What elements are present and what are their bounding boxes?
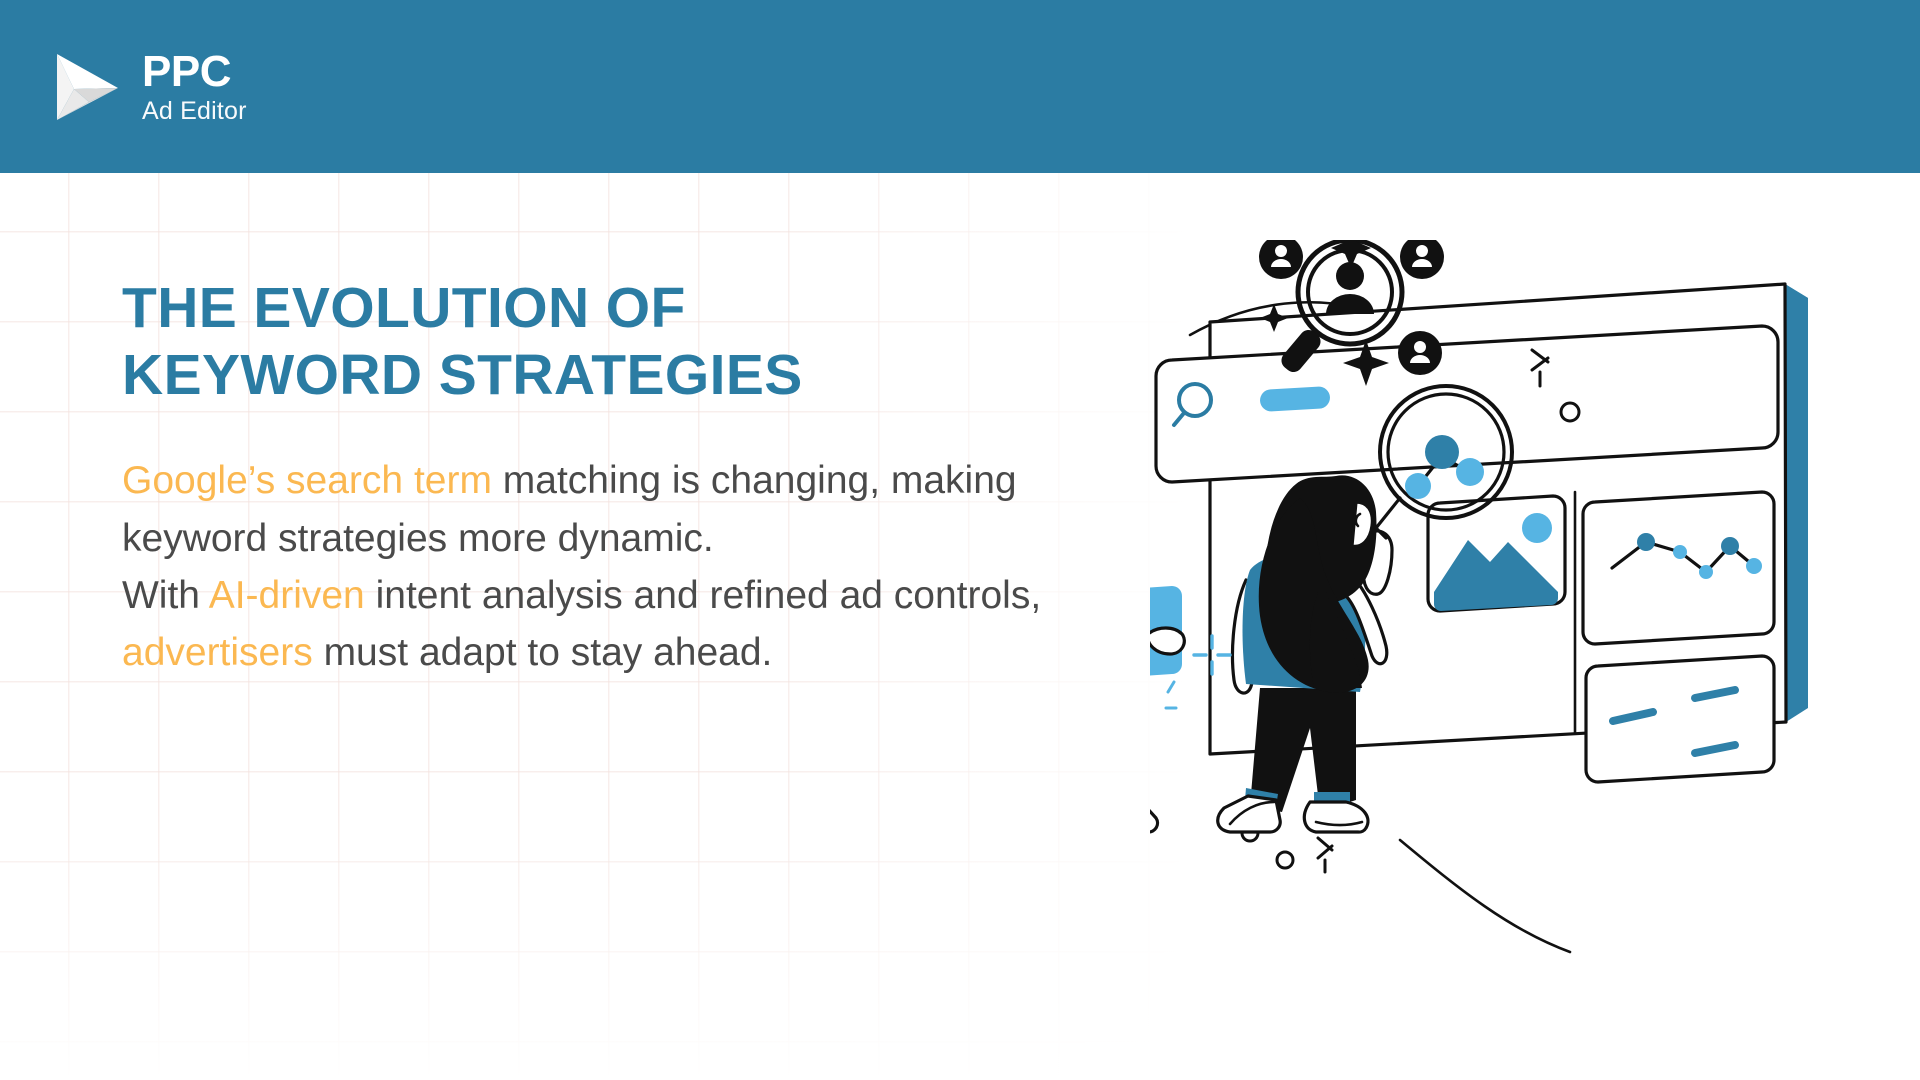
play-triangle-logo-icon (48, 48, 126, 126)
decor-circle-bl-2 (1277, 852, 1293, 868)
mag-chart-point-2 (1425, 435, 1459, 469)
chart-point-5 (1721, 537, 1739, 555)
image-card (1428, 496, 1565, 611)
decor-sparkle-bottom (1318, 838, 1332, 872)
body-text-5: intent analysis and (365, 574, 699, 617)
logo-wordmark: PPC Ad Editor (142, 50, 247, 124)
slide-root: PPC Ad Editor THE EVOLUTION OF KEYWORD S… (0, 0, 1920, 1080)
body-text-6: refined ad controls, (709, 574, 1041, 617)
header-bar: PPC Ad Editor (0, 0, 1920, 173)
decor-arc-bottom (1400, 840, 1570, 952)
content-column: THE EVOLUTION OF KEYWORD STRATEGIES Goog… (122, 275, 1042, 682)
mag-chart-point-1 (1405, 473, 1431, 499)
search-query-pill (1259, 386, 1330, 412)
person-body (1326, 294, 1374, 314)
line-chart-card (1583, 492, 1774, 644)
highlight-google-search-term: Google’s search term (122, 459, 492, 502)
person-head (1336, 262, 1364, 290)
chart-point-2 (1637, 533, 1655, 551)
body-paragraph: Google’s search term matching is changin… (122, 452, 1042, 681)
woman-shoe-right (1304, 802, 1368, 832)
logo-name: PPC (142, 50, 247, 94)
window-side-blue (1785, 284, 1808, 722)
chart-point-6 (1746, 558, 1762, 574)
image-sun-glyph (1522, 513, 1552, 543)
man-hand-holding-tablet (1150, 628, 1184, 654)
logo[interactable]: PPC Ad Editor (48, 48, 247, 126)
page-title: THE EVOLUTION OF KEYWORD STRATEGIES (122, 275, 1042, 408)
highlight-advertisers: advertisers (122, 631, 313, 674)
chart-point-3 (1673, 545, 1687, 559)
body-text-8: adapt to stay ahead. (419, 631, 772, 674)
person-badge-top-right (1400, 240, 1444, 279)
mag-chart-point-3 (1456, 458, 1484, 486)
person-badge-top-left (1259, 240, 1303, 279)
list-card (1586, 656, 1774, 782)
man-shoe-right (1150, 798, 1158, 832)
highlight-ai-driven: AI-driven (209, 574, 365, 617)
body-text-7: must (313, 631, 408, 674)
body-text-3: more dynamic. (458, 517, 714, 560)
keyword-research-illustration: .ln{fill:none;stroke:#111;stroke-width:3… (1150, 240, 1880, 1000)
person-badge-bottom-right (1398, 331, 1442, 375)
body-text-4: With (122, 574, 209, 617)
man-with-tablet (1150, 432, 1184, 832)
logo-tagline: Ad Editor (142, 99, 247, 124)
blue-sparkle-small (1166, 682, 1176, 708)
chart-point-4 (1699, 565, 1713, 579)
body-text-1: matching is (492, 459, 700, 502)
